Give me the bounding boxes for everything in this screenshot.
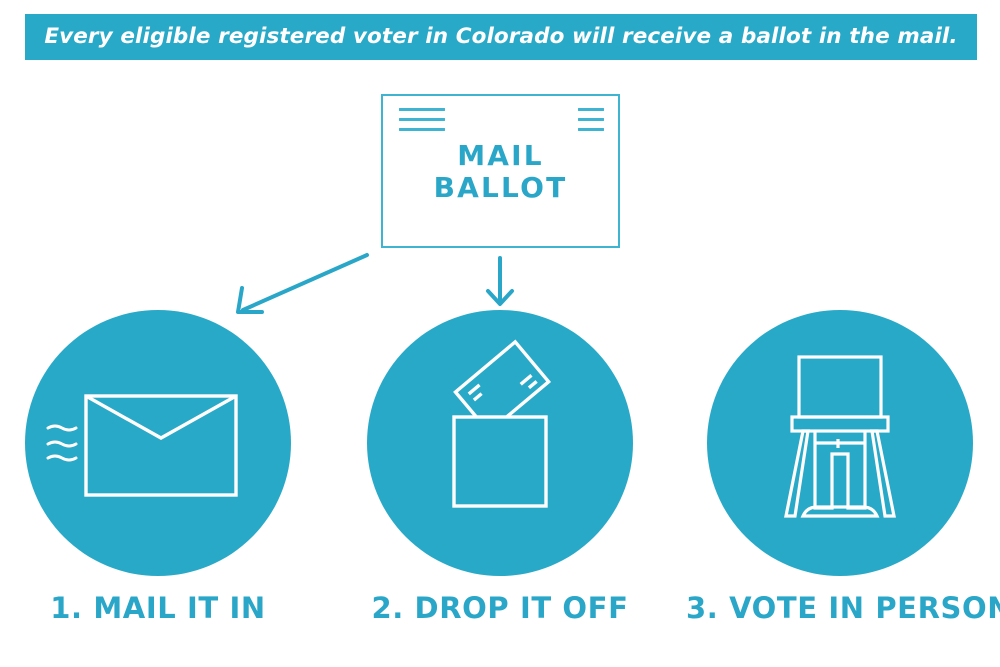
address-lines-icon <box>399 108 445 138</box>
mail-ballot-card: MAIL BALLOT <box>381 94 620 248</box>
voting-booth-icon <box>707 310 973 576</box>
motion-lines-icon <box>48 426 76 460</box>
ballot-drop-box-icon <box>367 310 633 576</box>
step-2-label: 2. DROP IT OFF <box>367 591 633 625</box>
arrow-to-mail-it-in-icon <box>238 255 367 312</box>
arrow-to-drop-it-off-icon <box>488 258 512 304</box>
step-1-circle <box>25 310 291 576</box>
mail-ballot-card-title-line1: MAIL <box>383 140 618 172</box>
envelope-icon <box>25 310 291 576</box>
step-2-circle <box>367 310 633 576</box>
headline-banner-text: Every eligible registered voter in Color… <box>44 26 957 48</box>
step-3-label: 3. VOTE IN PERSON <box>686 591 994 625</box>
stamp-lines-icon <box>578 108 604 138</box>
headline-banner: Every eligible registered voter in Color… <box>25 14 977 60</box>
step-1-label: 1. MAIL IT IN <box>25 591 291 625</box>
mail-ballot-card-title-line2: BALLOT <box>383 172 618 204</box>
step-3-circle <box>707 310 973 576</box>
infographic-canvas: Every eligible registered voter in Color… <box>0 0 1000 667</box>
mail-ballot-card-title: MAIL BALLOT <box>383 140 618 204</box>
